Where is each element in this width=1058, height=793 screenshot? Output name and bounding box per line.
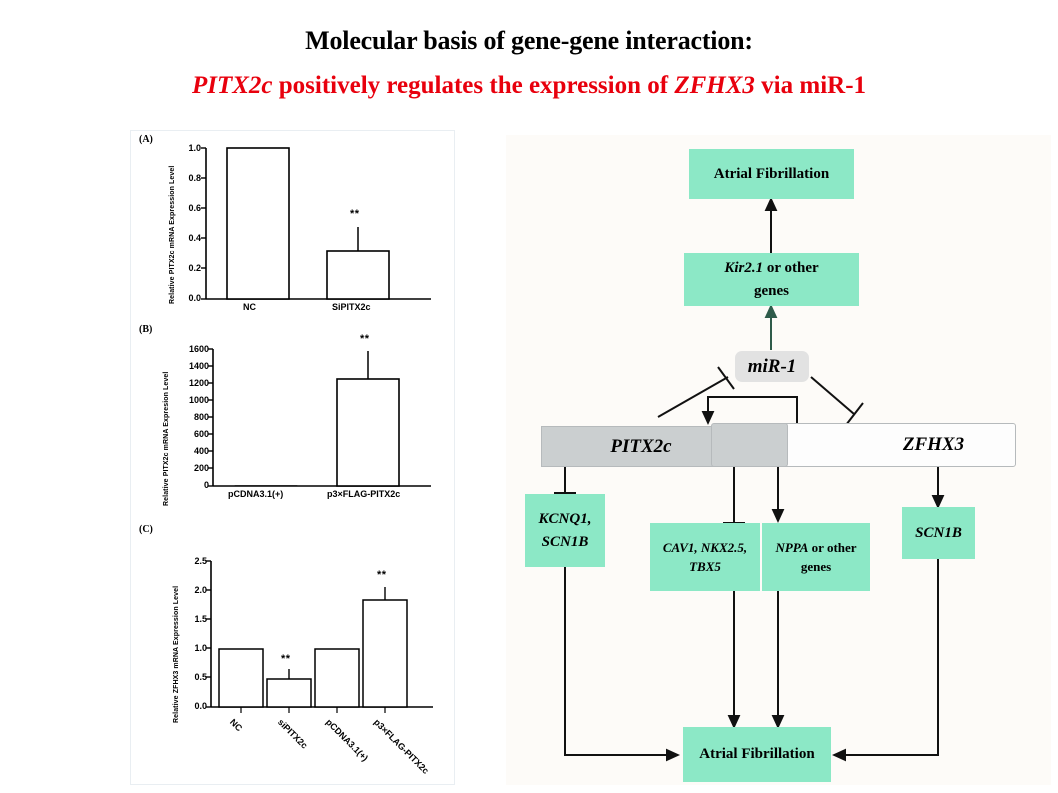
node-nppa-or-other-genes[interactable]: NPPA or other genes	[762, 523, 870, 591]
chart-c-sig-3: **	[377, 569, 387, 581]
chart-a-sig-1: **	[350, 208, 360, 220]
node-kir-line2: genes	[754, 280, 789, 303]
chart-b-xtick-0: pCDNA3.1(+)	[228, 489, 283, 499]
node-scn1b[interactable]: SCN1B	[902, 507, 975, 559]
chart-a-xtick-0: NC	[243, 302, 256, 312]
arrow-zfhx3-feedback-to-pitx2c	[708, 397, 797, 425]
chart-panel-b: Relative PITX2c mRNA Expresion Level 160…	[131, 326, 456, 531]
inhibit-mir1-pitx2c-stem	[658, 377, 728, 417]
chart-panel-c: Relative ZFHX3 mRNA Expression Level 2.5…	[131, 531, 456, 786]
chart-b-plot	[131, 326, 456, 531]
node-cav1-line1: CAV1, NKX2.5,	[663, 538, 747, 558]
subtitle-text-2: via miR-1	[755, 72, 866, 99]
pathway-diagram: Atrial Fibrillation Kir2.1 or other gene…	[506, 135, 1051, 785]
subtitle-gene-pitx2c: PITX2c	[192, 72, 273, 99]
page-subtitle: PITX2c positively regulates the expressi…	[0, 71, 1058, 101]
chart-panel-a: Relative PITX2c mRNA Expression Level 1.…	[131, 131, 456, 331]
node-mir-1[interactable]: miR-1	[735, 351, 809, 382]
subtitle-gene-zfhx3: ZFHX3	[674, 72, 755, 99]
kir-suffix: or other	[763, 260, 819, 276]
kir-gene-name: Kir2.1	[724, 260, 763, 276]
subtitle-text-1: positively regulates the expression of	[273, 72, 675, 99]
node-kir2-1-or-other-genes[interactable]: Kir2.1 or other genes	[684, 253, 859, 306]
node-cav1-line2: TBX5	[689, 557, 721, 577]
inhibit-mir1-zfhx3-stem	[811, 377, 854, 414]
node-nppa-line1: NPPA or other	[775, 538, 856, 558]
nppa-gene-name: NPPA	[775, 540, 808, 555]
nppa-suffix: or other	[808, 540, 856, 555]
chart-b-sig-1: **	[360, 333, 370, 345]
title-block: Molecular basis of gene-gene interaction…	[0, 26, 1058, 101]
node-pitx2c-zfhx3-overlap[interactable]	[711, 423, 788, 467]
node-atrial-fibrillation-top[interactable]: Atrial Fibrillation	[689, 149, 854, 199]
node-cav1-nkx25-tbx5[interactable]: CAV1, NKX2.5, TBX5	[650, 523, 760, 591]
node-atrial-fibrillation-bottom[interactable]: Atrial Fibrillation	[683, 727, 831, 782]
inhibit-mir1-pitx2c-bar	[718, 367, 734, 389]
slide-root: Molecular basis of gene-gene interaction…	[0, 0, 1058, 793]
chart-a-plot	[131, 131, 456, 331]
chart-b-xtick-1: p3×FLAG-PITX2c	[327, 489, 400, 499]
page-title: Molecular basis of gene-gene interaction…	[0, 26, 1058, 56]
arrow-kcnq1-to-af-bottom	[565, 567, 678, 755]
node-kir-line1: Kir2.1 or other	[724, 257, 818, 280]
node-kcnq1-scn1b[interactable]: KCNQ1, SCN1B	[525, 494, 605, 567]
chart-c-sig-1: **	[281, 653, 291, 665]
charts-panel: (A) Relative PITX2c mRNA Expression Leve…	[130, 130, 455, 785]
node-kcnq1-line2: SCN1B	[542, 531, 589, 554]
node-zfhx3-label: ZFHX3	[903, 434, 964, 456]
chart-a-xtick-1: SiPITX2c	[332, 302, 371, 312]
node-nppa-line2: genes	[801, 557, 831, 577]
node-kcnq1-line1: KCNQ1,	[539, 508, 592, 531]
inhibit-mir1-zfhx3-bar	[846, 403, 863, 425]
